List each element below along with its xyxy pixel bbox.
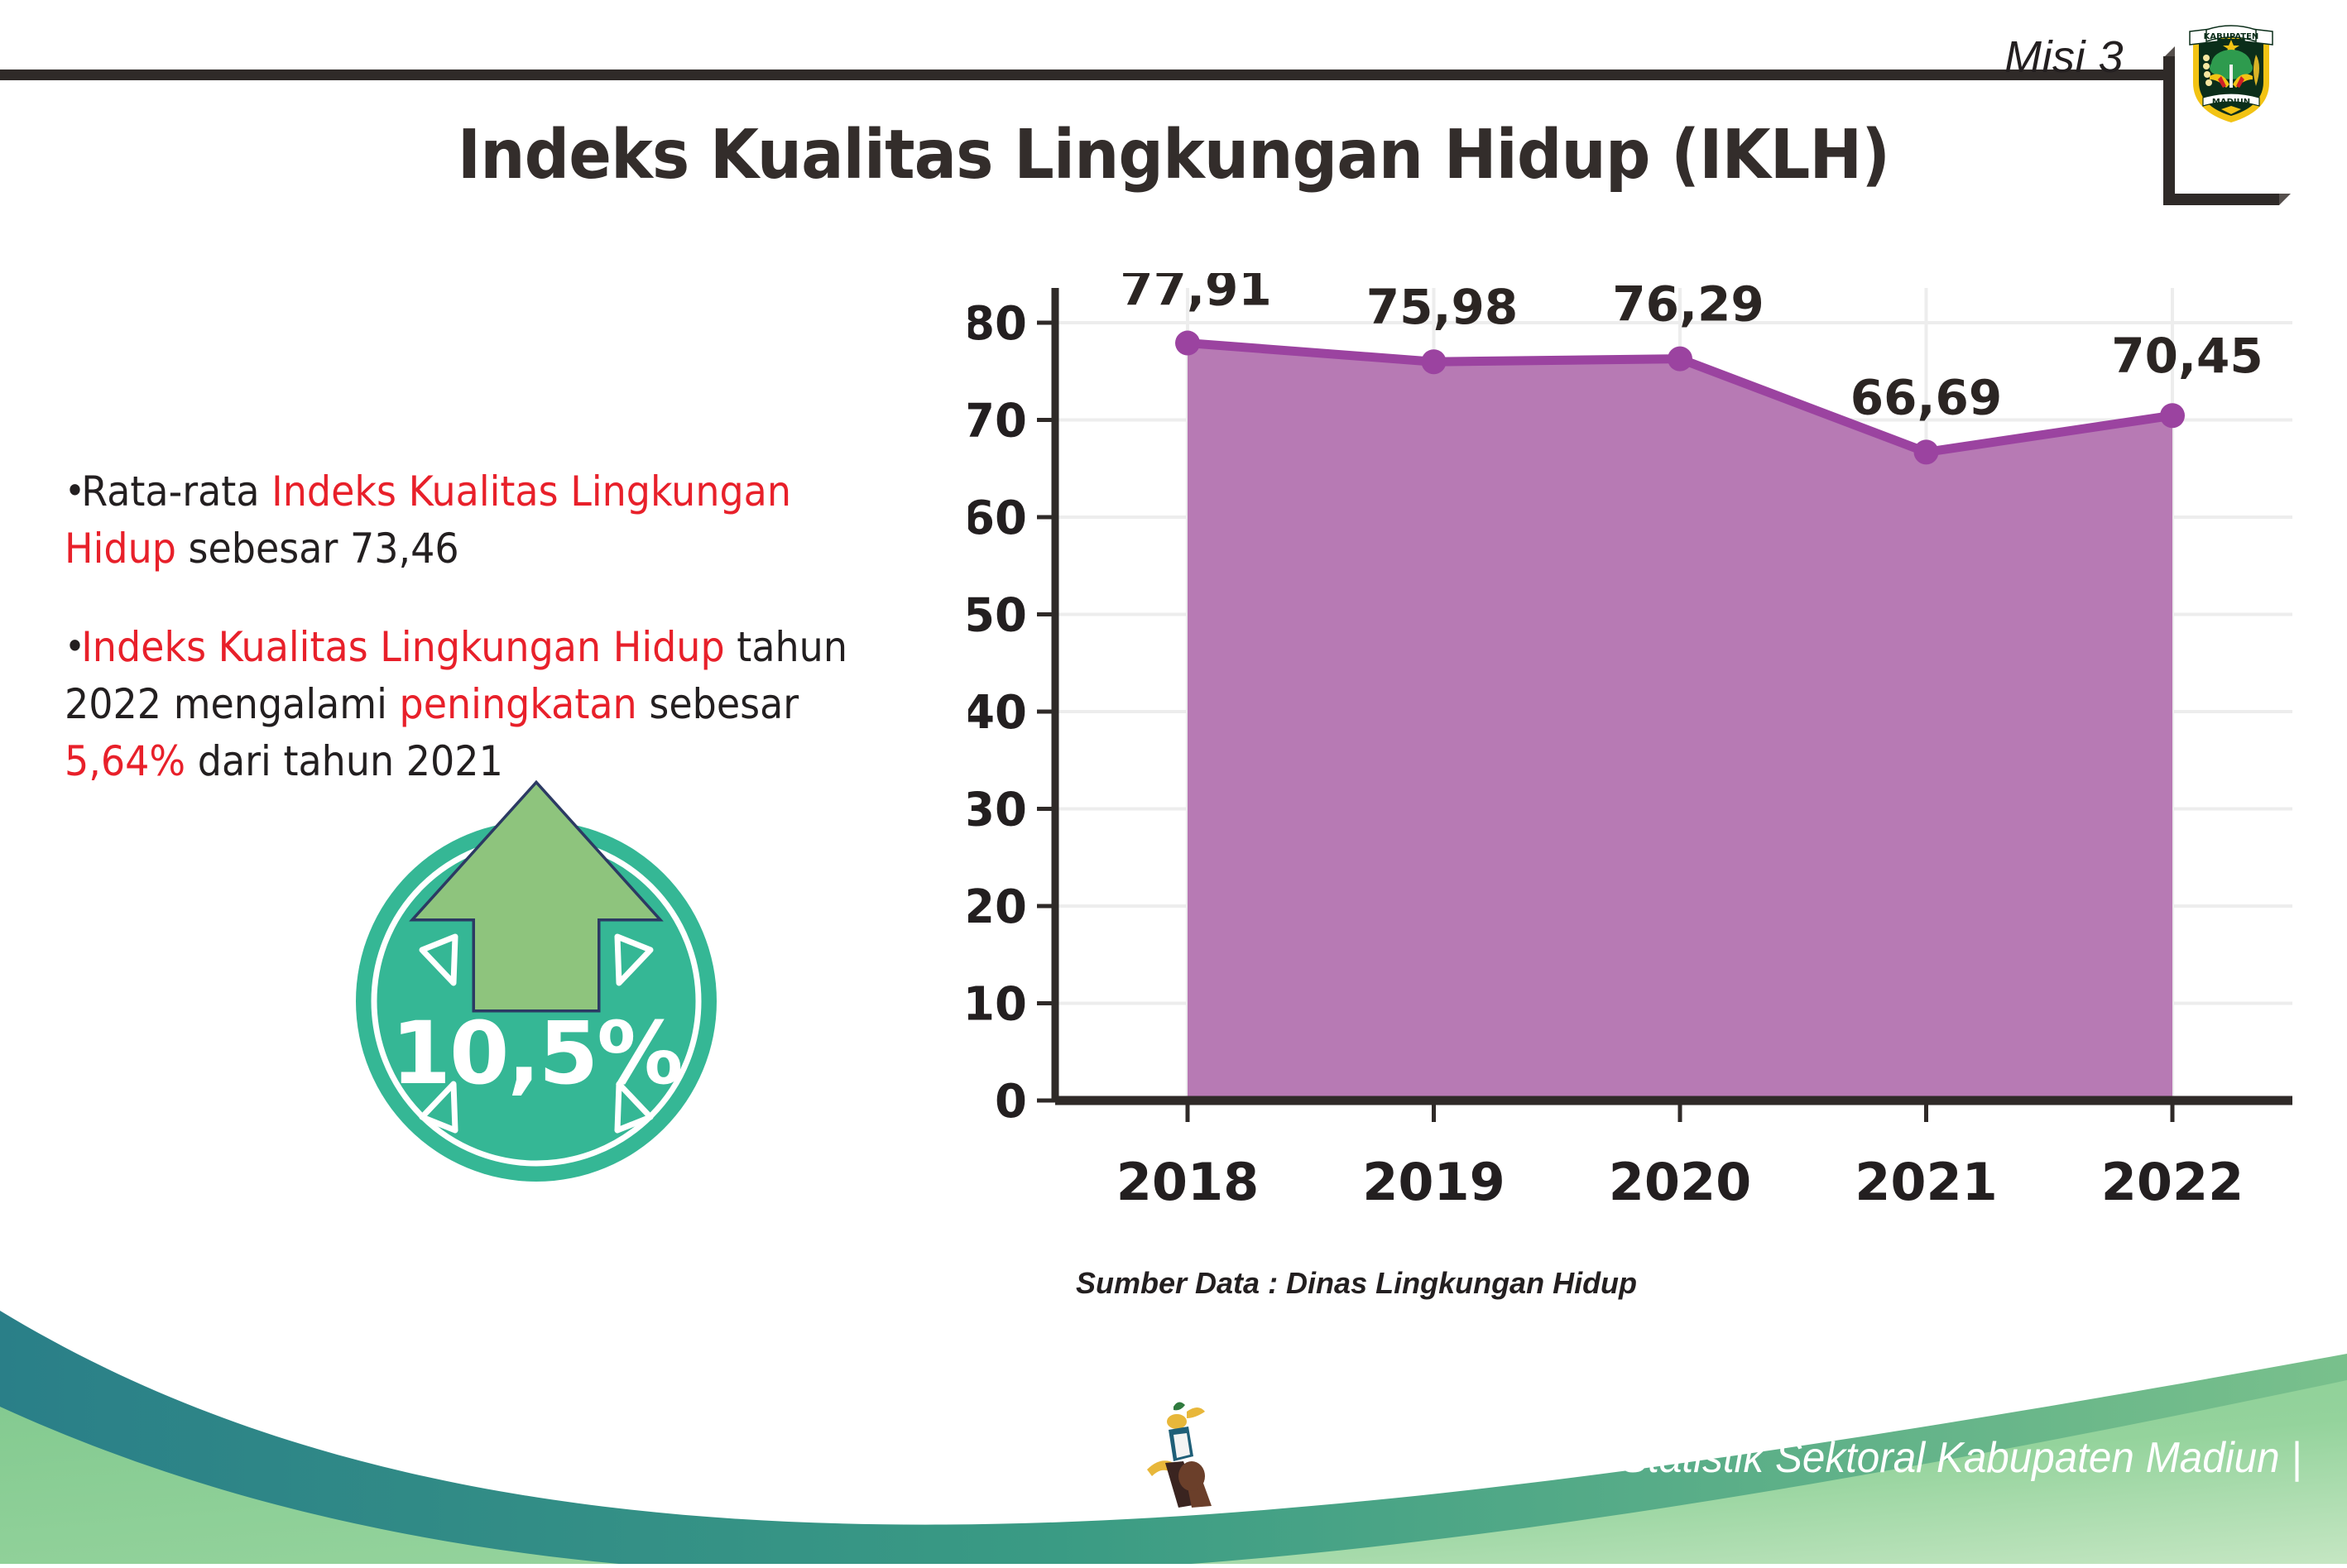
y-tick-label: 30 <box>968 784 1027 837</box>
y-tick-label: 70 <box>968 395 1027 448</box>
chart-value-label: 75,98 <box>1366 279 1518 335</box>
header-bracket-corner-bottom <box>2279 194 2291 205</box>
x-tick-label: 2019 <box>1362 1152 1505 1212</box>
mission-label: Misi 3 <box>2004 31 2124 83</box>
bullet1-tail: sebesar 73,46 <box>176 525 459 573</box>
iklh-area-chart: 01020304050607080 20182019202020212022 7… <box>968 273 2309 1283</box>
y-tick-label: 0 <box>995 1075 1027 1129</box>
chart-marker <box>2160 403 2185 428</box>
svg-text:MADIUN: MADIUN <box>2212 98 2250 107</box>
y-tick-label: 10 <box>968 978 1027 1032</box>
y-tick-label: 80 <box>968 297 1027 351</box>
chart-svg: 01020304050607080 20182019202020212022 7… <box>968 273 2309 1283</box>
bullet2-mid-2: sebesar <box>637 680 799 728</box>
bullet2-highlight-3: 5,64% <box>65 737 185 785</box>
badge-value-text: 10,5% <box>329 1003 743 1104</box>
chart-marker <box>1668 347 1692 372</box>
x-tick-label: 2020 <box>1609 1152 1752 1212</box>
chart-marker <box>1175 331 1200 356</box>
chart-marker <box>1422 349 1447 374</box>
narrative-bullet-1: •Rata-rata Indeks Kualitas Lingkungan Hi… <box>65 463 902 578</box>
page-title: Indeks Kualitas Lingkungan Hidup (IKLH) <box>82 116 2264 194</box>
chart-x-tick-labels: 20182019202020212022 <box>1116 1152 2244 1212</box>
chart-value-label: 76,29 <box>1612 276 1764 333</box>
bullet2-highlight-2: peningkatan <box>400 680 637 728</box>
kabupaten-madiun-logo-icon: KABUPATEN MADIUN <box>2185 18 2277 126</box>
chart-marker <box>1914 439 1939 464</box>
chart-y-tick-labels: 01020304050607080 <box>968 297 1027 1129</box>
increase-badge: 10,5% <box>329 761 743 1192</box>
bullet2-highlight-1: Indeks Kualitas Lingkungan Hidup <box>81 623 724 671</box>
y-tick-label: 50 <box>968 589 1027 643</box>
media-infografis-figure-icon <box>1140 1397 1231 1513</box>
header-bracket-horizontal <box>2163 194 2279 205</box>
chart-area-fill <box>1188 343 2172 1100</box>
chart-value-label: 77,91 <box>1120 273 1271 317</box>
bullet-dot-icon: • <box>65 627 81 665</box>
footer-band: Media Infografis Data Statistik Sektoral… <box>0 1283 2347 1564</box>
y-tick-label: 20 <box>968 880 1027 934</box>
y-tick-label: 60 <box>968 491 1027 545</box>
bullet1-lead: Rata-rata <box>81 468 271 515</box>
x-tick-label: 2018 <box>1116 1152 1260 1212</box>
chart-value-label: 70,45 <box>2111 328 2263 384</box>
y-tick-label: 40 <box>968 686 1027 740</box>
chart-value-label: 66,69 <box>1850 369 2002 425</box>
badge-graphic <box>329 761 743 1192</box>
footer-caption: Media Infografis Data Statistik Sektoral… <box>1221 1433 2301 1483</box>
x-tick-label: 2021 <box>1855 1152 1998 1212</box>
bullet-dot-icon: • <box>65 472 81 510</box>
x-tick-label: 2022 <box>2101 1152 2244 1212</box>
header-divider-rule <box>0 70 2163 80</box>
